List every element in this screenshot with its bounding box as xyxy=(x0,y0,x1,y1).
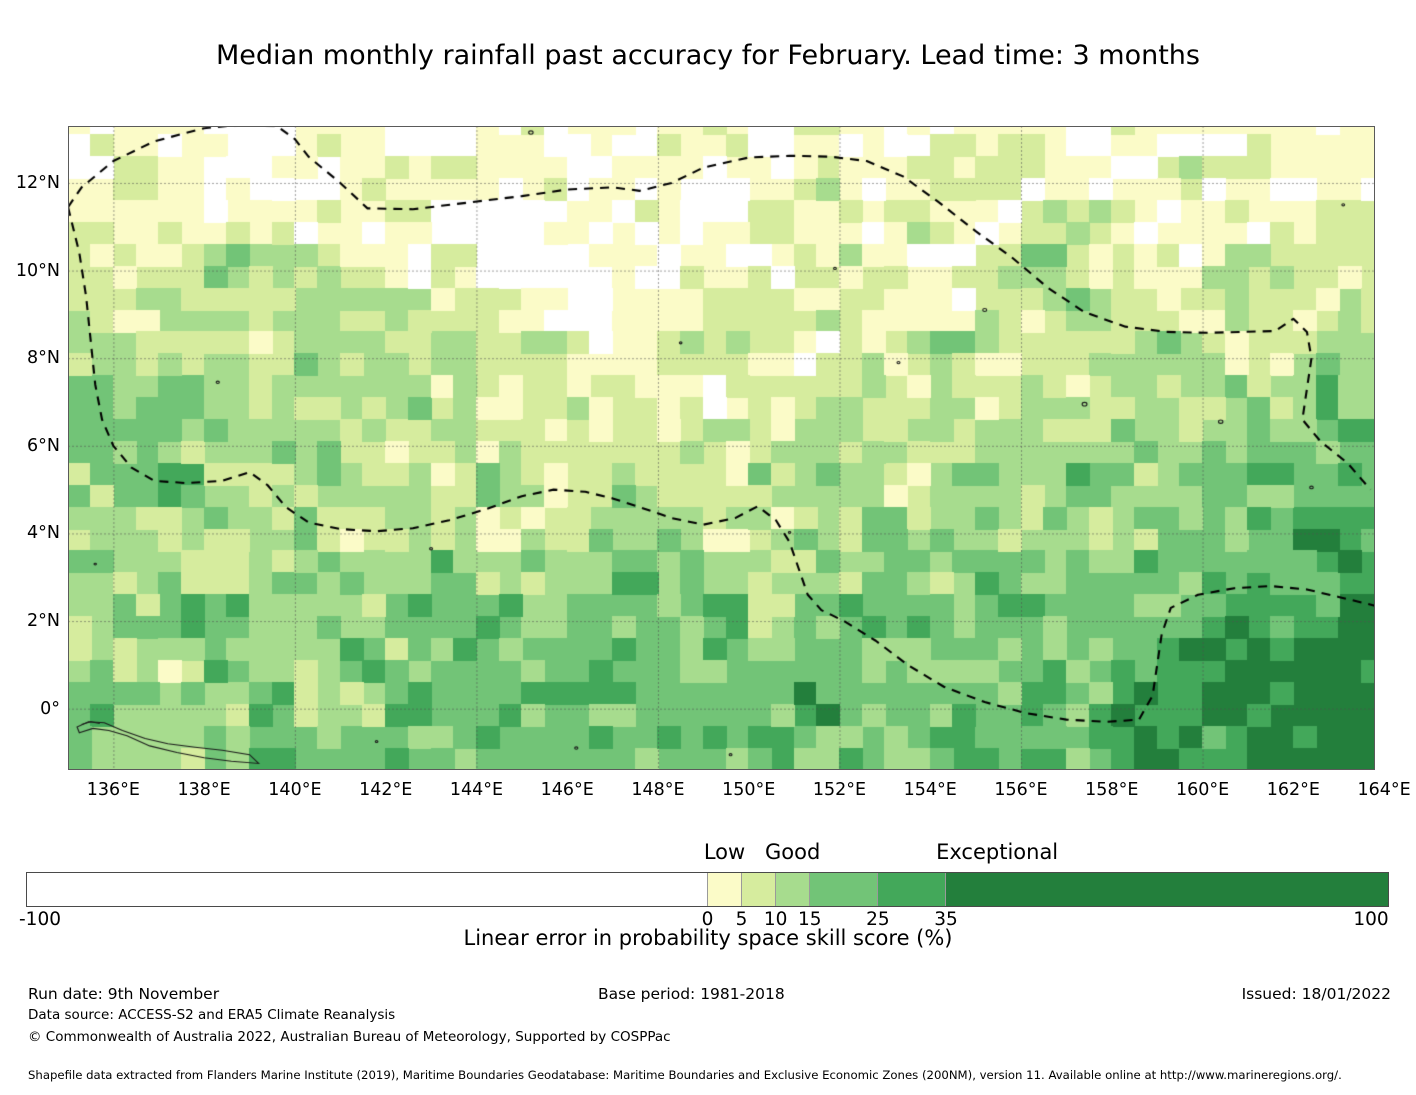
x-tick-label: 156°E xyxy=(994,780,1047,800)
page-title: Median monthly rainfall past accuracy fo… xyxy=(0,40,1416,71)
colorbar-label: Linear error in probability space skill … xyxy=(0,926,1416,950)
x-tick-label: 136°E xyxy=(87,780,140,800)
shapefile-attribution: Shapefile data extracted from Flanders M… xyxy=(28,1068,1342,1082)
y-tick-label: 6°N xyxy=(0,436,60,456)
x-tick-label: 160°E xyxy=(1176,780,1229,800)
x-tick-label: 152°E xyxy=(813,780,866,800)
x-tick-label: 164°E xyxy=(1357,780,1410,800)
colorbar-category-label: Good xyxy=(765,840,820,864)
x-tick-label: 144°E xyxy=(450,780,503,800)
copyright: © Commonwealth of Australia 2022, Austra… xyxy=(28,1029,671,1045)
colorbar-gradient xyxy=(26,872,1389,907)
colorbar-segment xyxy=(776,873,810,906)
colorbar-category-label: Low xyxy=(704,840,745,864)
x-tick-label: 148°E xyxy=(631,780,684,800)
rainfall-accuracy-heatmap xyxy=(68,126,1375,770)
run-date: Run date: 9th November xyxy=(28,985,219,1003)
colorbar-segment xyxy=(946,873,1388,906)
y-tick-label: 10°N xyxy=(0,261,60,281)
x-tick-label: 162°E xyxy=(1267,780,1320,800)
x-tick-label: 138°E xyxy=(178,780,231,800)
y-tick-label: 8°N xyxy=(0,348,60,368)
base-period: Base period: 1981-2018 xyxy=(598,985,785,1003)
y-tick-label: 2°N xyxy=(0,611,60,631)
x-tick-label: 142°E xyxy=(359,780,412,800)
colorbar-segment xyxy=(810,873,878,906)
map-plot-area xyxy=(68,126,1375,770)
y-tick-label: 12°N xyxy=(0,173,60,193)
issued-date: Issued: 18/01/2022 xyxy=(1242,985,1391,1003)
x-tick-label: 140°E xyxy=(268,780,321,800)
colorbar xyxy=(26,872,1389,907)
colorbar-category-label: Exceptional xyxy=(936,840,1058,864)
x-tick-label: 158°E xyxy=(1085,780,1138,800)
colorbar-segment xyxy=(27,873,708,906)
data-source: Data source: ACCESS-S2 and ERA5 Climate … xyxy=(28,1007,395,1023)
footer: Run date: 9th November Base period: 1981… xyxy=(0,985,1416,1051)
x-tick-label: 150°E xyxy=(722,780,775,800)
colorbar-segment xyxy=(742,873,776,906)
y-tick-label: 0° xyxy=(0,699,60,719)
y-tick-label: 4°N xyxy=(0,523,60,543)
x-tick-label: 146°E xyxy=(541,780,594,800)
x-tick-label: 154°E xyxy=(904,780,957,800)
colorbar-segment xyxy=(878,873,946,906)
colorbar-segment xyxy=(708,873,742,906)
